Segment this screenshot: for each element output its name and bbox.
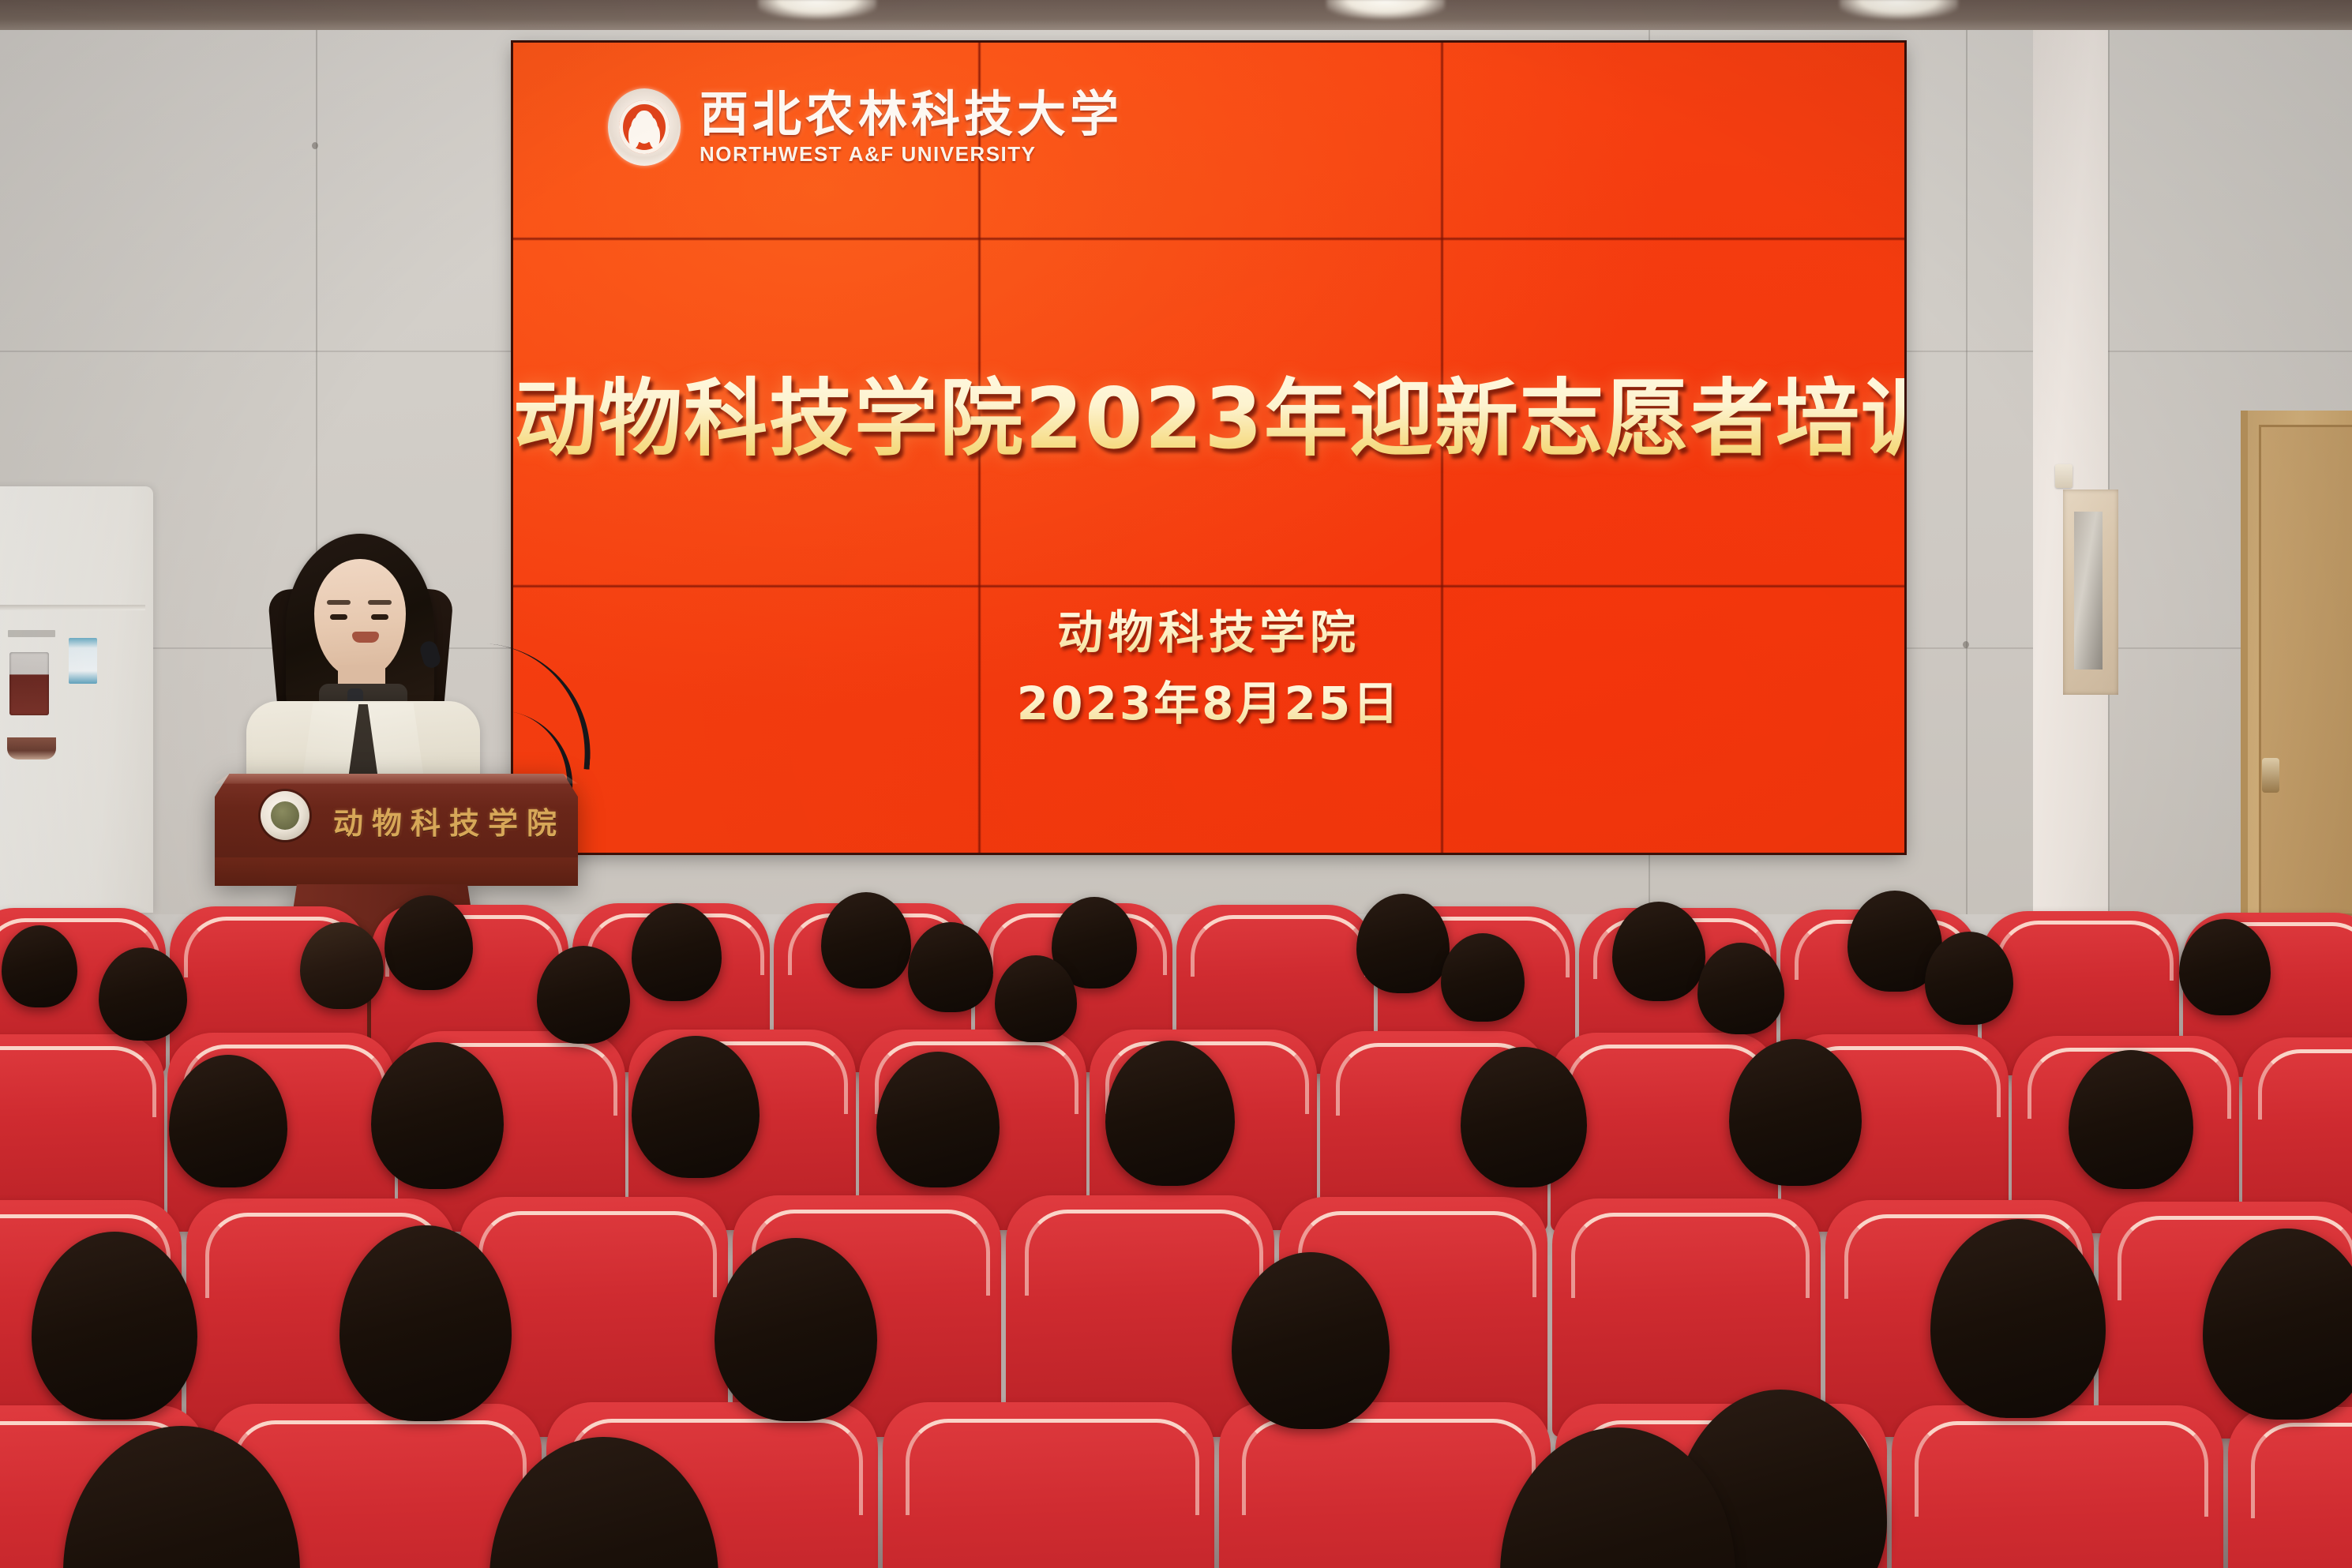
- auditorium-seat[interactable]: [1006, 1195, 1274, 1437]
- ceiling: [0, 0, 2352, 32]
- podium-trim: [215, 857, 578, 886]
- auditorium-photo: 西北农林科技大学 NORTHWEST A&F UNIVERSITY 动物科技学院…: [0, 0, 2352, 1568]
- led-video-wall: 西北农林科技大学 NORTHWEST A&F UNIVERSITY 动物科技学院…: [513, 43, 1904, 853]
- dispenser-sticker: [69, 638, 97, 684]
- dispenser-window: [9, 652, 49, 715]
- eye-right: [371, 614, 388, 620]
- door-panel: [2259, 425, 2352, 916]
- light-switch[interactable]: [2055, 464, 2073, 488]
- eyebrow-right: [368, 600, 392, 605]
- wall-fixture-dot: [1963, 641, 1969, 648]
- wall-recess-panel: [2063, 490, 2118, 695]
- panel-seam-horizontal: [513, 584, 1904, 588]
- wall-seam: [2108, 30, 2110, 914]
- auditorium-seat[interactable]: [1219, 1402, 1551, 1568]
- eye-left: [330, 614, 347, 620]
- dispenser-label: [8, 630, 55, 637]
- audience-member-head: [300, 922, 384, 1009]
- podium-nameplate: 动物科技学院: [333, 799, 565, 842]
- auditorium-seat[interactable]: [883, 1402, 1214, 1568]
- speaker-mouth: [352, 632, 379, 643]
- auditorium-seat[interactable]: [1892, 1405, 2223, 1568]
- dispenser-lip: [0, 605, 145, 610]
- slide-date: 2023年8月25日: [513, 666, 1904, 733]
- recess-inner: [2074, 512, 2103, 670]
- university-name-en: NORTHWEST A&F UNIVERSITY: [700, 144, 1123, 164]
- auditorium-seat[interactable]: [2228, 1407, 2352, 1568]
- eyebrow-left: [327, 600, 351, 605]
- room-door[interactable]: [2241, 411, 2352, 916]
- college-seal-icon: [261, 791, 309, 840]
- university-logo-text: 西北农林科技大学 NORTHWEST A&F UNIVERSITY: [700, 90, 1123, 164]
- speaker-face: [314, 559, 406, 677]
- dispenser-tray: [7, 737, 56, 760]
- audience-seating: [0, 884, 2352, 1568]
- water-dispenser: [0, 486, 153, 913]
- panel-seam-horizontal: [513, 237, 1904, 241]
- slide-title: 动物科技学院2023年迎新志愿者培训: [513, 351, 1904, 472]
- door-handle[interactable]: [2262, 758, 2279, 793]
- university-name-cn: 西北农林科技大学: [700, 90, 1123, 139]
- university-logo: 西北农林科技大学 NORTHWEST A&F UNIVERSITY: [608, 88, 1123, 166]
- wall-fixture-dot: [312, 142, 318, 149]
- northwest-af-university-seal-icon: [608, 88, 681, 166]
- slide-organization: 动物科技学院: [513, 595, 1904, 662]
- wall-seam: [1966, 30, 1968, 914]
